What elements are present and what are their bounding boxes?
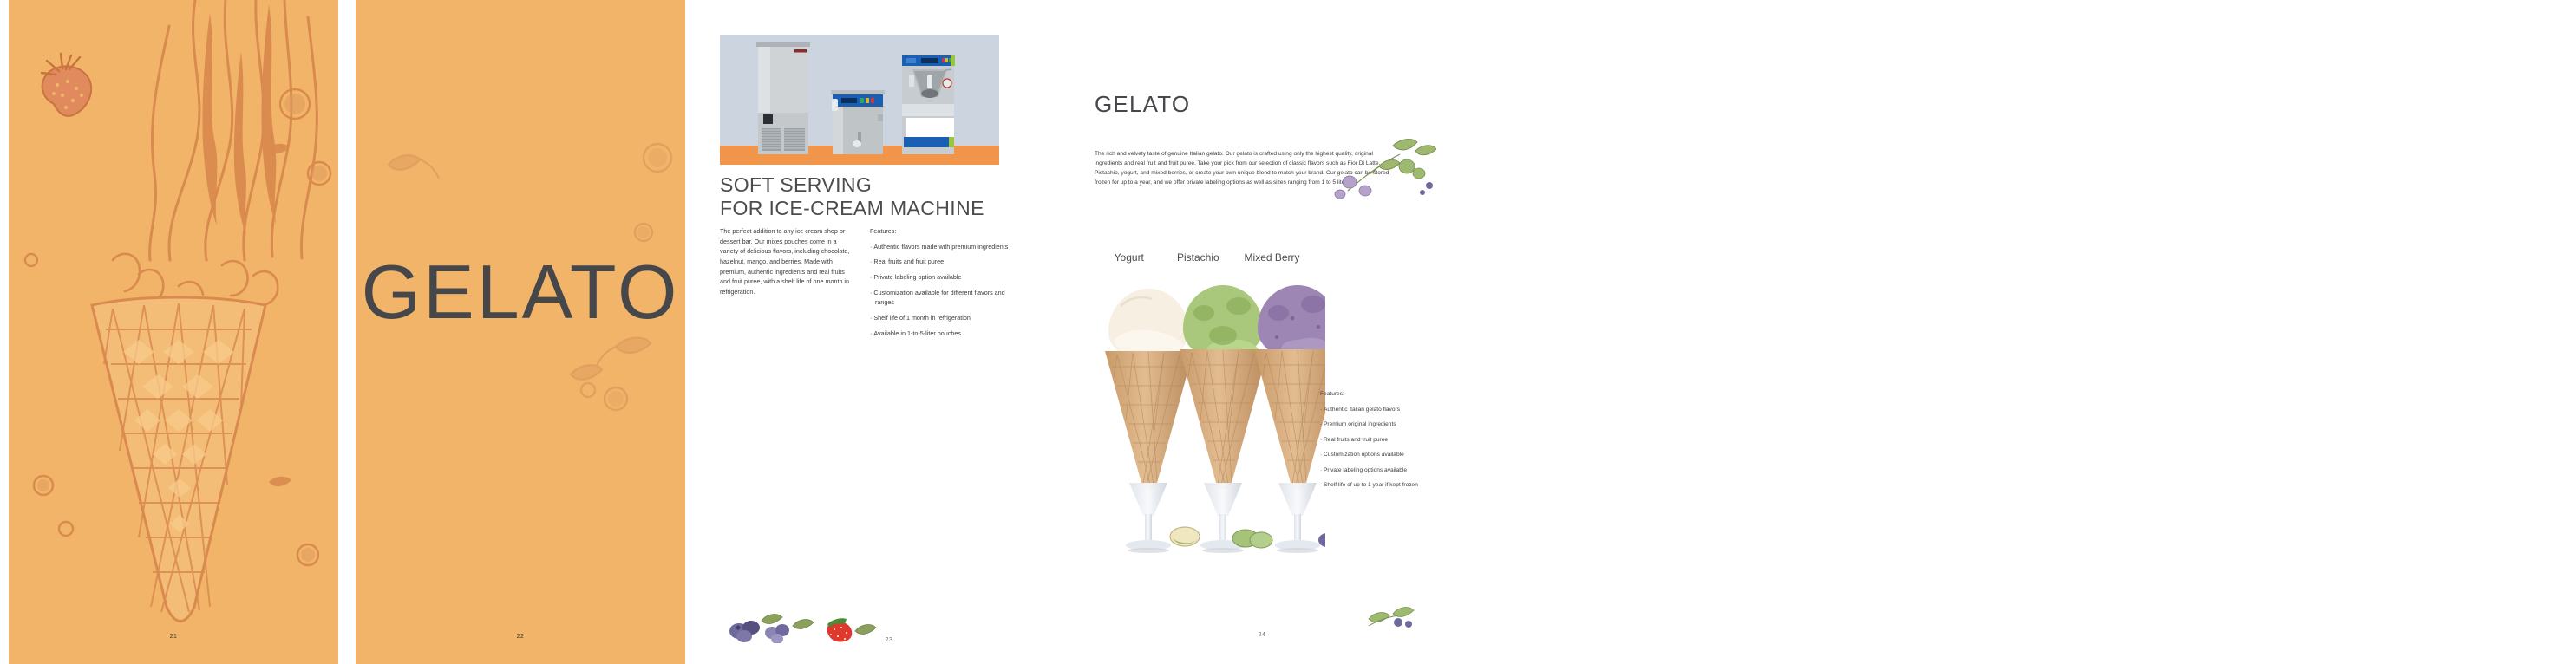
page-number: 21 [170,634,178,640]
gelato-cones-photo [1091,264,1325,611]
catalog-spread: 21 [0,0,2576,664]
leaf-berry-decoration [1363,600,1424,631]
page-22-title: GELATO 22 [356,0,685,664]
fruit-decoration-illustration [718,602,892,643]
melting-gelato-cone-illustration [9,0,338,664]
flavor-label-yogurt: Yogurt [1095,251,1164,264]
list-item: Customization options available [1320,451,1440,460]
page-heading: SOFT SERVING FOR ICE-CREAM MACHINE [720,173,984,220]
list-item: Customization available for different fl… [870,288,1009,308]
features-title: Features: [1320,390,1440,400]
body-paragraph: The perfect addition to any ice cream sh… [720,226,850,297]
features-block: Features: Authentic flavors made with pr… [870,226,1009,343]
features-list: Authentic Italian gelato flavors Premium… [1320,406,1440,491]
page-23-soft-serving: SOFT SERVING FOR ICE-CREAM MACHINE The p… [711,0,1067,664]
cone-yogurt [1105,289,1193,553]
ice-cream-machines-photo [720,35,999,165]
list-item: Premium original ingredients [1320,420,1440,430]
cone-mixed-berry [1254,285,1325,553]
features-title: Features: [870,226,1009,237]
features-block: Features: Authentic Italian gelato flavo… [1320,390,1440,497]
list-item: Authentic flavors made with premium ingr… [870,242,1009,252]
strawberry-icon [827,618,853,641]
page-number: 24 [1259,632,1266,638]
page-24-gelato: GELATO The rich and velvety taste of gen… [1084,0,1440,664]
features-list: Authentic flavors made with premium ingr… [870,242,1009,339]
list-item: Available in 1-to-5-liter pouches [870,329,1009,339]
list-item: Authentic Italian gelato flavors [1320,406,1440,415]
machines-illustration [720,35,999,165]
list-item: Real fruits and fruit puree [870,257,1009,267]
grapes-icon [765,624,789,643]
flavor-labels: Yogurt Pistachio Mixed Berry [1095,251,1311,264]
list-item: Shelf life of 1 month in refrigeration [870,313,1009,323]
leaf-icon [855,625,876,635]
list-item: Private labeling option available [870,272,1009,283]
flavor-label-pistachio: Pistachio [1164,251,1233,264]
page-title: GELATO [356,248,685,336]
page-number: 23 [886,637,893,643]
list-item: Real fruits and fruit puree [1320,436,1440,446]
batch-freezer-machine [902,55,955,154]
page-21-illustration: 21 [9,0,338,664]
pasteurizer-machine [831,90,885,154]
list-item: Shelf life of up to 1 year if kept froze… [1320,481,1440,491]
list-item: Private labeling options available [1320,466,1440,476]
berry-branch-decoration [1332,128,1436,206]
flavor-label-mixed-berry: Mixed Berry [1232,251,1311,264]
blast-freezer-machine [756,42,810,154]
blueberry-icon [729,621,760,642]
page-title: GELATO [1095,91,1190,118]
cone-pistachio [1180,285,1268,553]
page-number: 22 [517,634,525,640]
blueberry-icon [1318,533,1325,550]
